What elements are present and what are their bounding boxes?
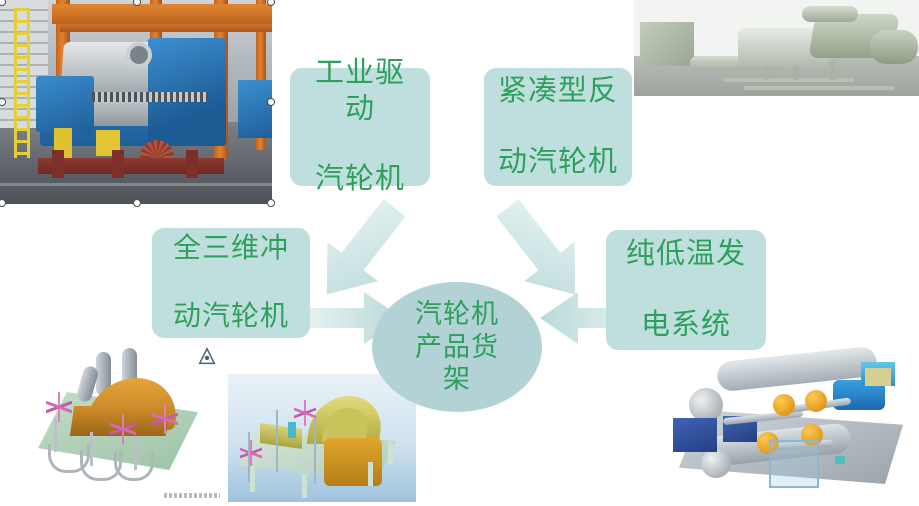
blue-housing-1 [673, 418, 717, 452]
node-full-3d-impulse-turbine[interactable]: 全三维冲动汽轮机 [152, 228, 310, 338]
vertical-rod-3 [248, 432, 250, 482]
node-low-temperature-power-system-label: 纯低温发电系统 [614, 237, 758, 343]
orc-power-unit-scene [665, 344, 919, 506]
turbine-generator-scene [634, 0, 919, 96]
base-leg-2 [112, 150, 124, 178]
node-line-2: 电系统 [620, 308, 752, 343]
support-rack [769, 440, 819, 488]
control-cabinet [640, 22, 694, 66]
picture-impulse-turbine-cad[interactable] [18, 340, 226, 506]
node-industrial-drive-turbine-label: 工业驱动汽轮机 [290, 56, 430, 198]
company-logo-icon [196, 346, 218, 368]
center-node[interactable]: 汽轮机产品货架 [372, 282, 542, 412]
pipe-stub-3 [830, 62, 835, 80]
vessel-end-cap-2 [701, 448, 731, 478]
deck-leg-1 [250, 466, 255, 492]
center-node-line-2: 产品货 [415, 332, 499, 362]
node-low-temperature-power-system[interactable]: 纯低温发电系统 [606, 230, 766, 350]
turbine-flange [126, 42, 152, 68]
pink-support-right [152, 404, 178, 434]
node-line-2: 动汽轮机 [492, 145, 624, 180]
slide-canvas: 汽轮机产品货架 工业驱动汽轮机 紧凑型反动汽轮机 全三维冲动汽轮机 纯低温发电系… [0, 0, 919, 506]
base-leg-3 [186, 150, 198, 178]
crane-beam-lower [60, 24, 272, 32]
picture-orc-power-unit-cad[interactable] [665, 344, 919, 506]
terminal-box [865, 368, 891, 386]
turbine-module-cad-scene [228, 374, 416, 502]
selection-handle-bottom-right[interactable] [267, 199, 275, 207]
center-node-label: 汽轮机产品货架 [415, 298, 499, 395]
cad-caption-strip [164, 493, 220, 498]
factory-scene [0, 0, 272, 204]
pipe-stub-2 [794, 66, 799, 80]
node-full-3d-impulse-turbine-label: 全三维冲动汽轮机 [161, 232, 301, 334]
orange-valve-2 [805, 390, 827, 412]
base-leg-1 [52, 150, 64, 178]
node-line-1: 工业驱动 [296, 56, 424, 127]
background-machine [238, 80, 272, 138]
selection-handle-top-right[interactable] [267, 0, 275, 6]
node-line-2: 汽轮机 [296, 162, 424, 197]
factory-ladder [14, 8, 30, 158]
upper-cylinder [802, 6, 858, 22]
pipe-stub-1 [764, 66, 769, 80]
picture-turbine-generator-render[interactable] [634, 0, 919, 96]
node-line-1: 全三维冲 [167, 232, 295, 266]
floor-rail [0, 183, 272, 186]
center-node-line-1: 汽轮机 [415, 299, 499, 329]
selection-handle-bottom-left[interactable] [0, 199, 6, 207]
selection-handle-middle-right[interactable] [267, 98, 275, 106]
deck-leg-3 [368, 462, 373, 486]
pipe-run-2 [744, 86, 894, 90]
node-compact-reaction-turbine[interactable]: 紧凑型反动汽轮机 [484, 68, 632, 186]
node-line-1: 纯低温发 [620, 237, 752, 272]
node-line-1: 紧凑型反 [492, 74, 624, 109]
deck-leg-2 [302, 474, 307, 498]
picture-factory-steam-turbine[interactable] [0, 0, 272, 204]
node-compact-reaction-turbine-label: 紧凑型反动汽轮机 [486, 74, 630, 180]
pink-support-center [110, 414, 136, 444]
node-industrial-drive-turbine[interactable]: 工业驱动汽轮机 [290, 68, 430, 186]
turbine-gold-drum [324, 438, 382, 486]
teal-fitting [835, 456, 845, 464]
vertical-rod-1 [276, 410, 278, 472]
picture-turbine-module-cad[interactable] [228, 374, 416, 502]
selection-handle-bottom-center[interactable] [133, 199, 141, 207]
pink-support-b [294, 400, 316, 426]
turbine-blue-front [36, 76, 94, 132]
condensate-loop-3 [114, 452, 154, 481]
vessel-end-cap-1 [689, 388, 723, 422]
vertical-rod-2 [314, 418, 316, 484]
pink-support-left [46, 392, 72, 422]
pink-support-a [240, 440, 262, 466]
orange-valve-1 [773, 394, 795, 416]
crane-beam [52, 4, 272, 24]
center-node-line-3: 架 [443, 364, 471, 394]
impulse-turbine-cad-scene [18, 340, 226, 506]
turbine-bolt-row [92, 92, 208, 102]
node-line-2: 动汽轮机 [167, 300, 295, 334]
generator-body [870, 30, 918, 64]
deck-leg-4 [388, 442, 393, 464]
